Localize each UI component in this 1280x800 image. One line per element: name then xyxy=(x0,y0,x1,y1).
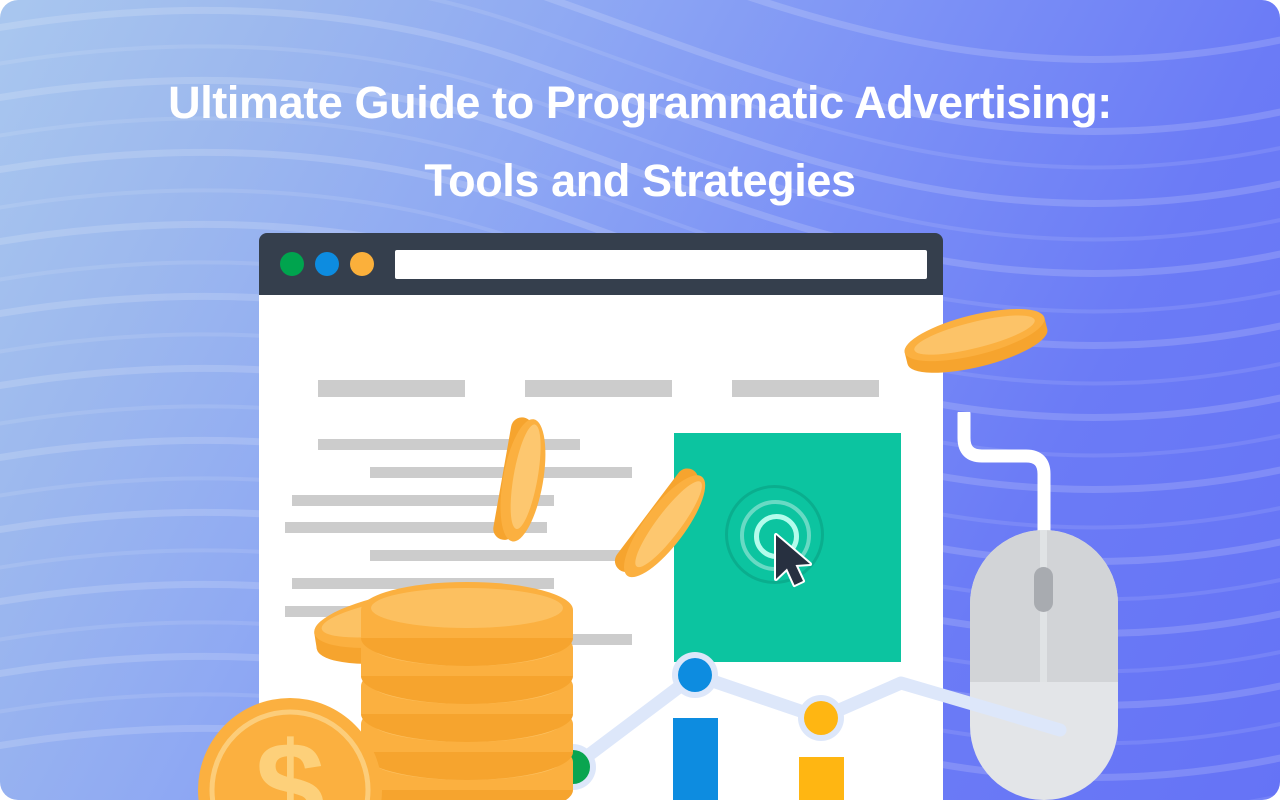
blue-dot-icon[interactable] xyxy=(315,252,339,276)
ad-banner-tile[interactable] xyxy=(674,433,901,662)
browser-window-mockup xyxy=(259,233,943,800)
url-input[interactable] xyxy=(395,250,927,279)
text-placeholder-line xyxy=(370,467,632,478)
browser-viewport xyxy=(259,295,943,800)
computer-mouse-illustration xyxy=(948,412,1128,800)
text-placeholder-line xyxy=(292,578,554,589)
cursor-arrow-icon xyxy=(772,533,814,591)
banner-title: Ultimate Guide to Programmatic Advertisi… xyxy=(0,64,1280,220)
title-line-1: Ultimate Guide to Programmatic Advertisi… xyxy=(0,64,1280,142)
nav-placeholder-0 xyxy=(318,380,465,397)
orange-dot-icon[interactable] xyxy=(350,252,374,276)
text-placeholder-line xyxy=(285,522,547,533)
promo-banner: Ultimate Guide to Programmatic Advertisi… xyxy=(0,0,1280,800)
title-line-2: Tools and Strategies xyxy=(0,142,1280,220)
text-placeholder-line xyxy=(370,550,632,561)
nav-placeholder-1 xyxy=(525,380,672,397)
browser-titlebar xyxy=(259,233,943,295)
text-placeholder-line xyxy=(285,606,547,617)
green-dot-icon[interactable] xyxy=(280,252,304,276)
text-placeholder-line xyxy=(292,495,554,506)
nav-placeholder-2 xyxy=(732,380,879,397)
text-placeholder-line xyxy=(318,439,580,450)
text-placeholder-line xyxy=(370,634,632,645)
